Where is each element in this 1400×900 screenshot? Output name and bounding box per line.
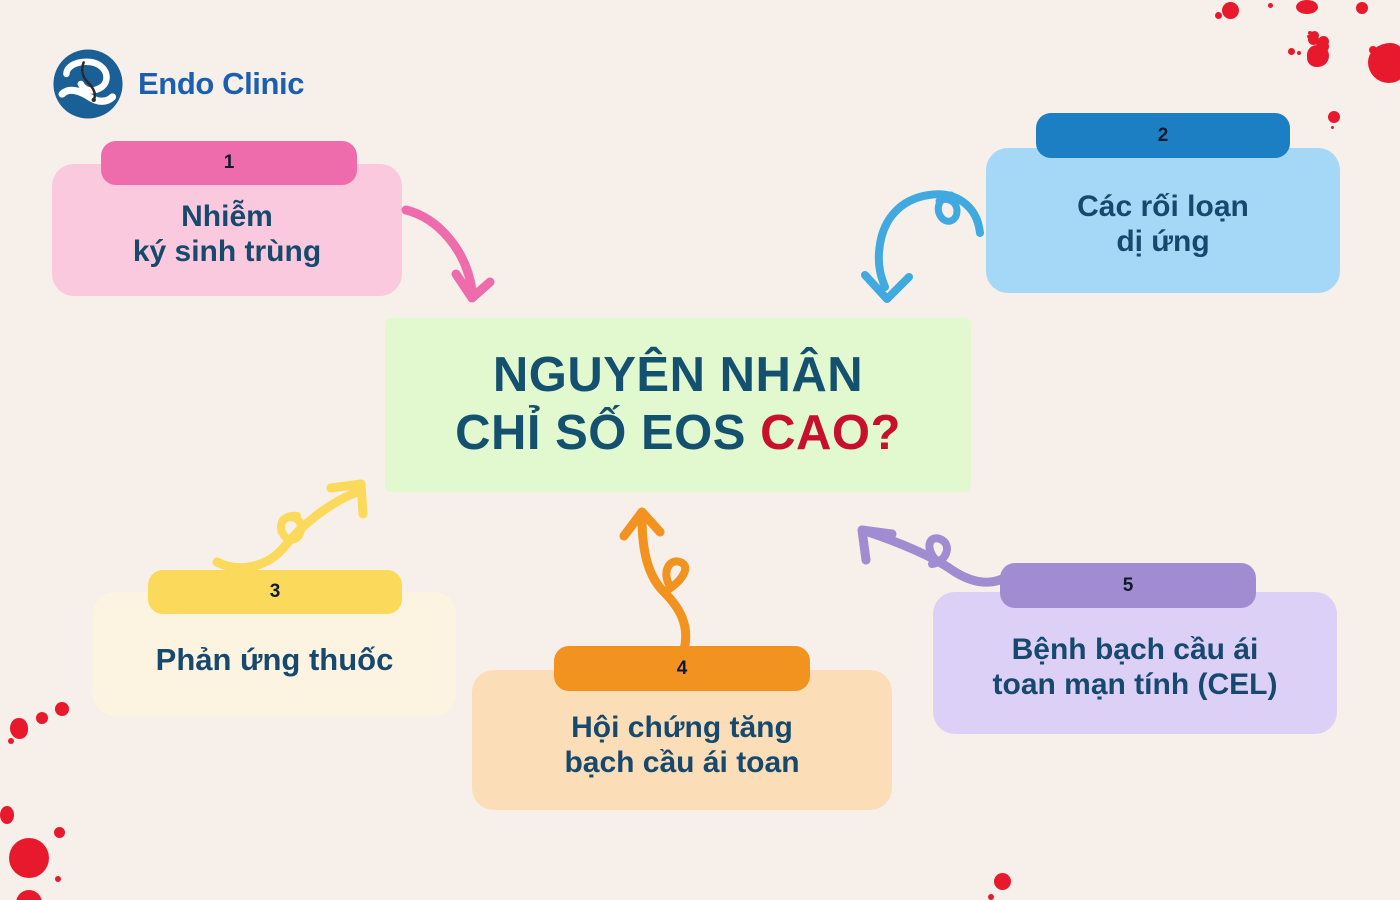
splatter-dot: [1356, 2, 1368, 14]
splatter-dot: [1310, 32, 1315, 37]
splatter-dot: [1307, 35, 1310, 38]
splatter-dot: [16, 890, 42, 900]
cause-label-5: Bệnh bạch cầu ái toan mạn tính (CEL): [979, 623, 1292, 703]
cause-label-4: Hội chứng tăng bạch cầu ái toan: [550, 699, 813, 781]
splatter-dot: [36, 712, 48, 724]
splatter-dot: [1307, 45, 1329, 67]
splatter-dot: [10, 718, 28, 739]
cause-number-badge-2: 2: [1036, 113, 1290, 158]
infographic-canvas: Endo Clinic Nhiễm ký sinh trùng 1 Các rố…: [0, 0, 1400, 900]
center-title-accent: CAO?: [760, 406, 901, 460]
splatter-dot: [1368, 43, 1400, 83]
center-title-line-2: CHỈ SỐ EOS CAO?: [455, 405, 901, 463]
splatter-dot: [1215, 12, 1222, 19]
splatter-dot: [1296, 0, 1318, 14]
center-title-line-1: NGUYÊN NHÂN: [493, 347, 863, 405]
cause-number-badge-4: 4: [554, 646, 810, 691]
brand-name: Endo Clinic: [138, 66, 304, 102]
splatter-dot: [994, 873, 1011, 890]
splatter-dot: [1328, 111, 1340, 123]
cause-card-5[interactable]: Bệnh bạch cầu ái toan mạn tính (CEL): [933, 592, 1337, 734]
arrow-from-card-1: [400, 178, 530, 318]
splatter-dot: [1308, 31, 1312, 35]
cause-number-badge-1: 1: [101, 141, 357, 185]
arrow-from-card-2: [855, 183, 1000, 308]
splatter-dot: [55, 876, 61, 882]
splatter-dot: [1297, 51, 1301, 55]
cause-card-4[interactable]: Hội chứng tăng bạch cầu ái toan: [472, 670, 892, 810]
splatter-dot: [9, 838, 49, 878]
cause-label-3: Phản ứng thuốc: [142, 630, 408, 678]
splatter-dot: [1331, 126, 1334, 129]
splatter-dot: [1316, 40, 1329, 53]
splatter-dot: [54, 827, 65, 838]
splatter-dot: [1369, 46, 1377, 54]
splatter-dot: [8, 738, 14, 744]
cause-card-2[interactable]: Các rối loạn dị ứng: [986, 148, 1340, 293]
cause-label-1: Nhiễm ký sinh trùng: [119, 190, 335, 270]
center-title-line-2-prefix: CHỈ SỐ EOS: [455, 406, 760, 460]
splatter-dot: [1310, 31, 1319, 40]
brand-logo: Endo Clinic: [52, 48, 304, 120]
splatter-dot: [1222, 2, 1239, 19]
cause-number-badge-3: 3: [148, 570, 402, 614]
splatter-dot: [1268, 3, 1273, 8]
splatter-dot: [988, 894, 994, 900]
arrow-from-card-4: [612, 500, 732, 655]
endoscope-stomach-logo-icon: [52, 48, 124, 120]
cause-number-badge-5: 5: [1000, 563, 1256, 608]
splatter-dot: [1308, 34, 1319, 45]
splatter-dot: [1308, 33, 1318, 43]
splatter-dot: [1288, 48, 1295, 55]
center-title-box: NGUYÊN NHÂN CHỈ SỐ EOS CAO?: [385, 318, 971, 492]
splatter-dot: [0, 806, 14, 824]
splatter-dot: [1318, 36, 1329, 47]
splatter-dot: [55, 702, 69, 716]
cause-label-2: Các rối loạn dị ứng: [1063, 182, 1263, 260]
